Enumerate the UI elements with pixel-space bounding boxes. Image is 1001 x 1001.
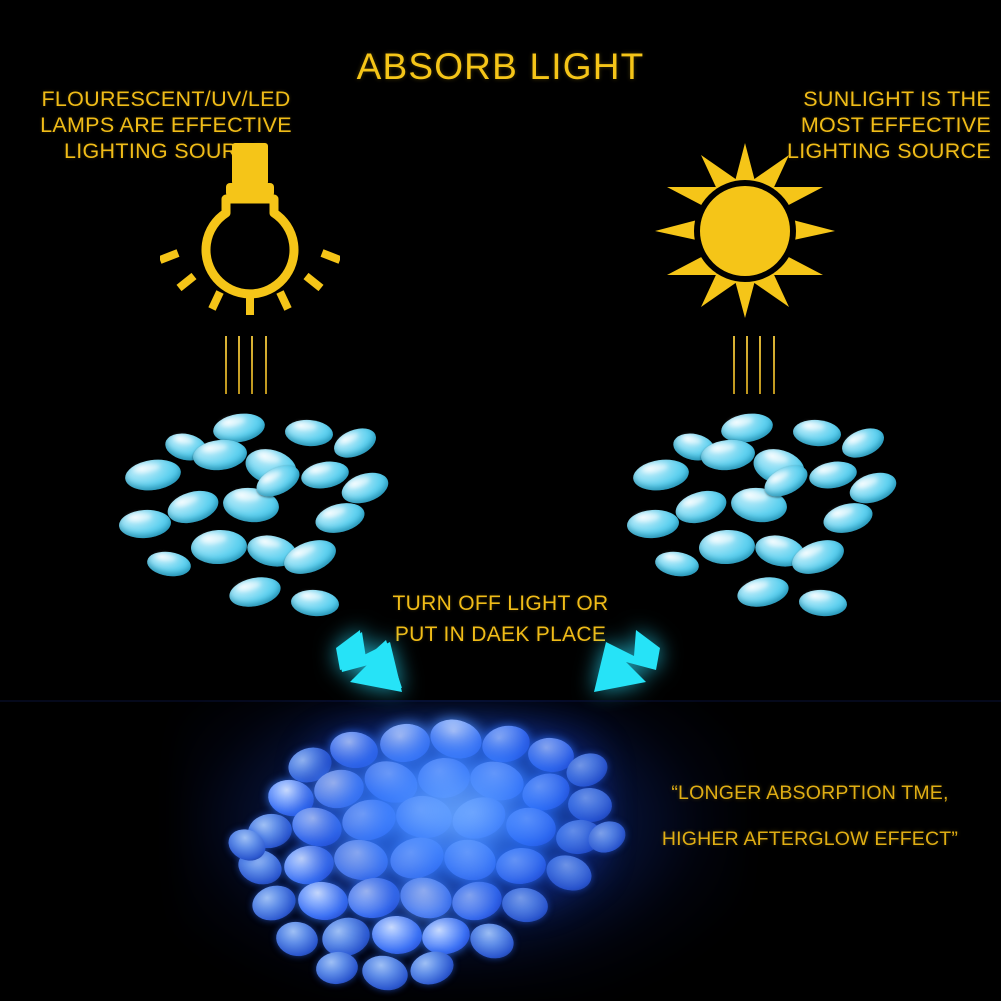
caption-absorption-quote: “LONGER ABSORPTION TME, HIGHER AFTERGLOW… xyxy=(640,770,980,862)
ray-line xyxy=(238,336,240,394)
pebble xyxy=(164,485,222,528)
light-bulb-icon xyxy=(160,143,340,318)
pebble xyxy=(330,423,381,464)
pebble xyxy=(626,508,680,540)
ray-line xyxy=(759,336,761,394)
pebble xyxy=(146,549,193,579)
pebble xyxy=(284,418,334,447)
infographic-canvas: ABSORB LIGHT FLOURESCENT/UV/LED LAMPS AR… xyxy=(0,0,1001,1001)
light-ray-lines-icon-left xyxy=(225,336,267,394)
ray-line xyxy=(773,336,775,394)
pebble xyxy=(792,418,842,447)
light-ray-lines-icon-right xyxy=(733,336,775,394)
pebble xyxy=(787,534,848,581)
caption-turn-off-light: TURN OFF LIGHT OR PUT IN DAEK PLACE xyxy=(0,588,1001,650)
pebble xyxy=(654,549,701,579)
ray-line xyxy=(225,336,227,394)
pebble xyxy=(190,529,248,566)
ray-line xyxy=(251,336,253,394)
arrow-down-right-icon xyxy=(332,628,408,704)
pebble xyxy=(838,423,889,464)
pebble xyxy=(118,508,172,540)
pebble xyxy=(279,534,340,581)
ray-line xyxy=(746,336,748,394)
pebble xyxy=(312,498,367,537)
pebble xyxy=(820,498,875,537)
ray-line xyxy=(265,336,267,394)
ray-line xyxy=(733,336,735,394)
sun-icon xyxy=(655,143,835,318)
pebble xyxy=(672,485,730,528)
arrow-down-left-icon xyxy=(588,628,664,704)
pebble xyxy=(123,456,183,494)
glow-core-highlight xyxy=(300,725,610,915)
pebble xyxy=(631,456,691,494)
pebble xyxy=(698,529,756,566)
page-title: ABSORB LIGHT xyxy=(0,46,1001,88)
